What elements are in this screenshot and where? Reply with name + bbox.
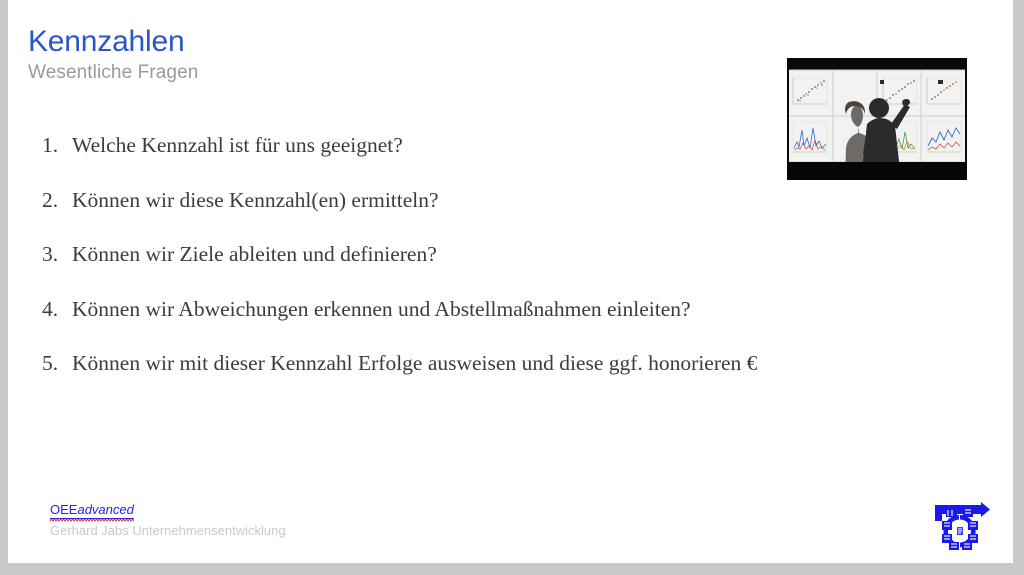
spellcheck-squiggle-icon [50,518,134,522]
footer-block: OEEadvanced Gerhard Jabs Unternehmensent… [50,501,286,539]
page-title: Kennzahlen [28,26,728,58]
list-item-number: 5. [34,352,72,376]
list-item-label: Welche Kennzahl ist für uns geeignet? [72,134,894,158]
list-item: 2. Können wir diese Kennzahl(en) ermitte… [34,189,894,244]
list-item-number: 2. [34,189,72,213]
list-item-label: Können wir Ziele ableiten und definieren… [72,243,894,267]
list-item: 1. Welche Kennzahl ist für uns geeignet? [34,134,894,189]
list-item: 3. Können wir Ziele ableiten und definie… [34,243,894,298]
brand-name-secondary: advanced [77,502,133,517]
title-block: Kennzahlen Wesentliche Fragen [28,26,728,84]
list-item-label: Können wir Abweichungen erkennen und Abs… [72,298,894,322]
question-list: 1. Welche Kennzahl ist für uns geeignet?… [34,134,894,407]
company-name: Gerhard Jabs Unternehmensentwicklung [50,524,286,539]
list-item-number: 3. [34,243,72,267]
company-logo [929,499,991,551]
list-item: 5. Können wir mit dieser Kennzahl Erfolg… [34,352,894,407]
slide-canvas: Kennzahlen Wesentliche Fragen 1. Welche … [8,0,1013,563]
list-item: 4. Können wir Abweichungen erkennen und … [34,298,894,353]
list-item-label: Können wir diese Kennzahl(en) ermitteln? [72,189,894,213]
data-wall-photo [787,58,967,180]
list-item-number: 4. [34,298,72,322]
list-item-number: 1. [34,134,72,158]
page-subtitle: Wesentliche Fragen [28,63,728,84]
slide-frame: Kennzahlen Wesentliche Fragen 1. Welche … [0,0,1024,575]
brand-name: OEEadvanced [50,503,134,519]
list-item-label: Können wir mit dieser Kennzahl Erfolge a… [72,352,894,376]
brand-name-primary: OEE [50,502,77,517]
